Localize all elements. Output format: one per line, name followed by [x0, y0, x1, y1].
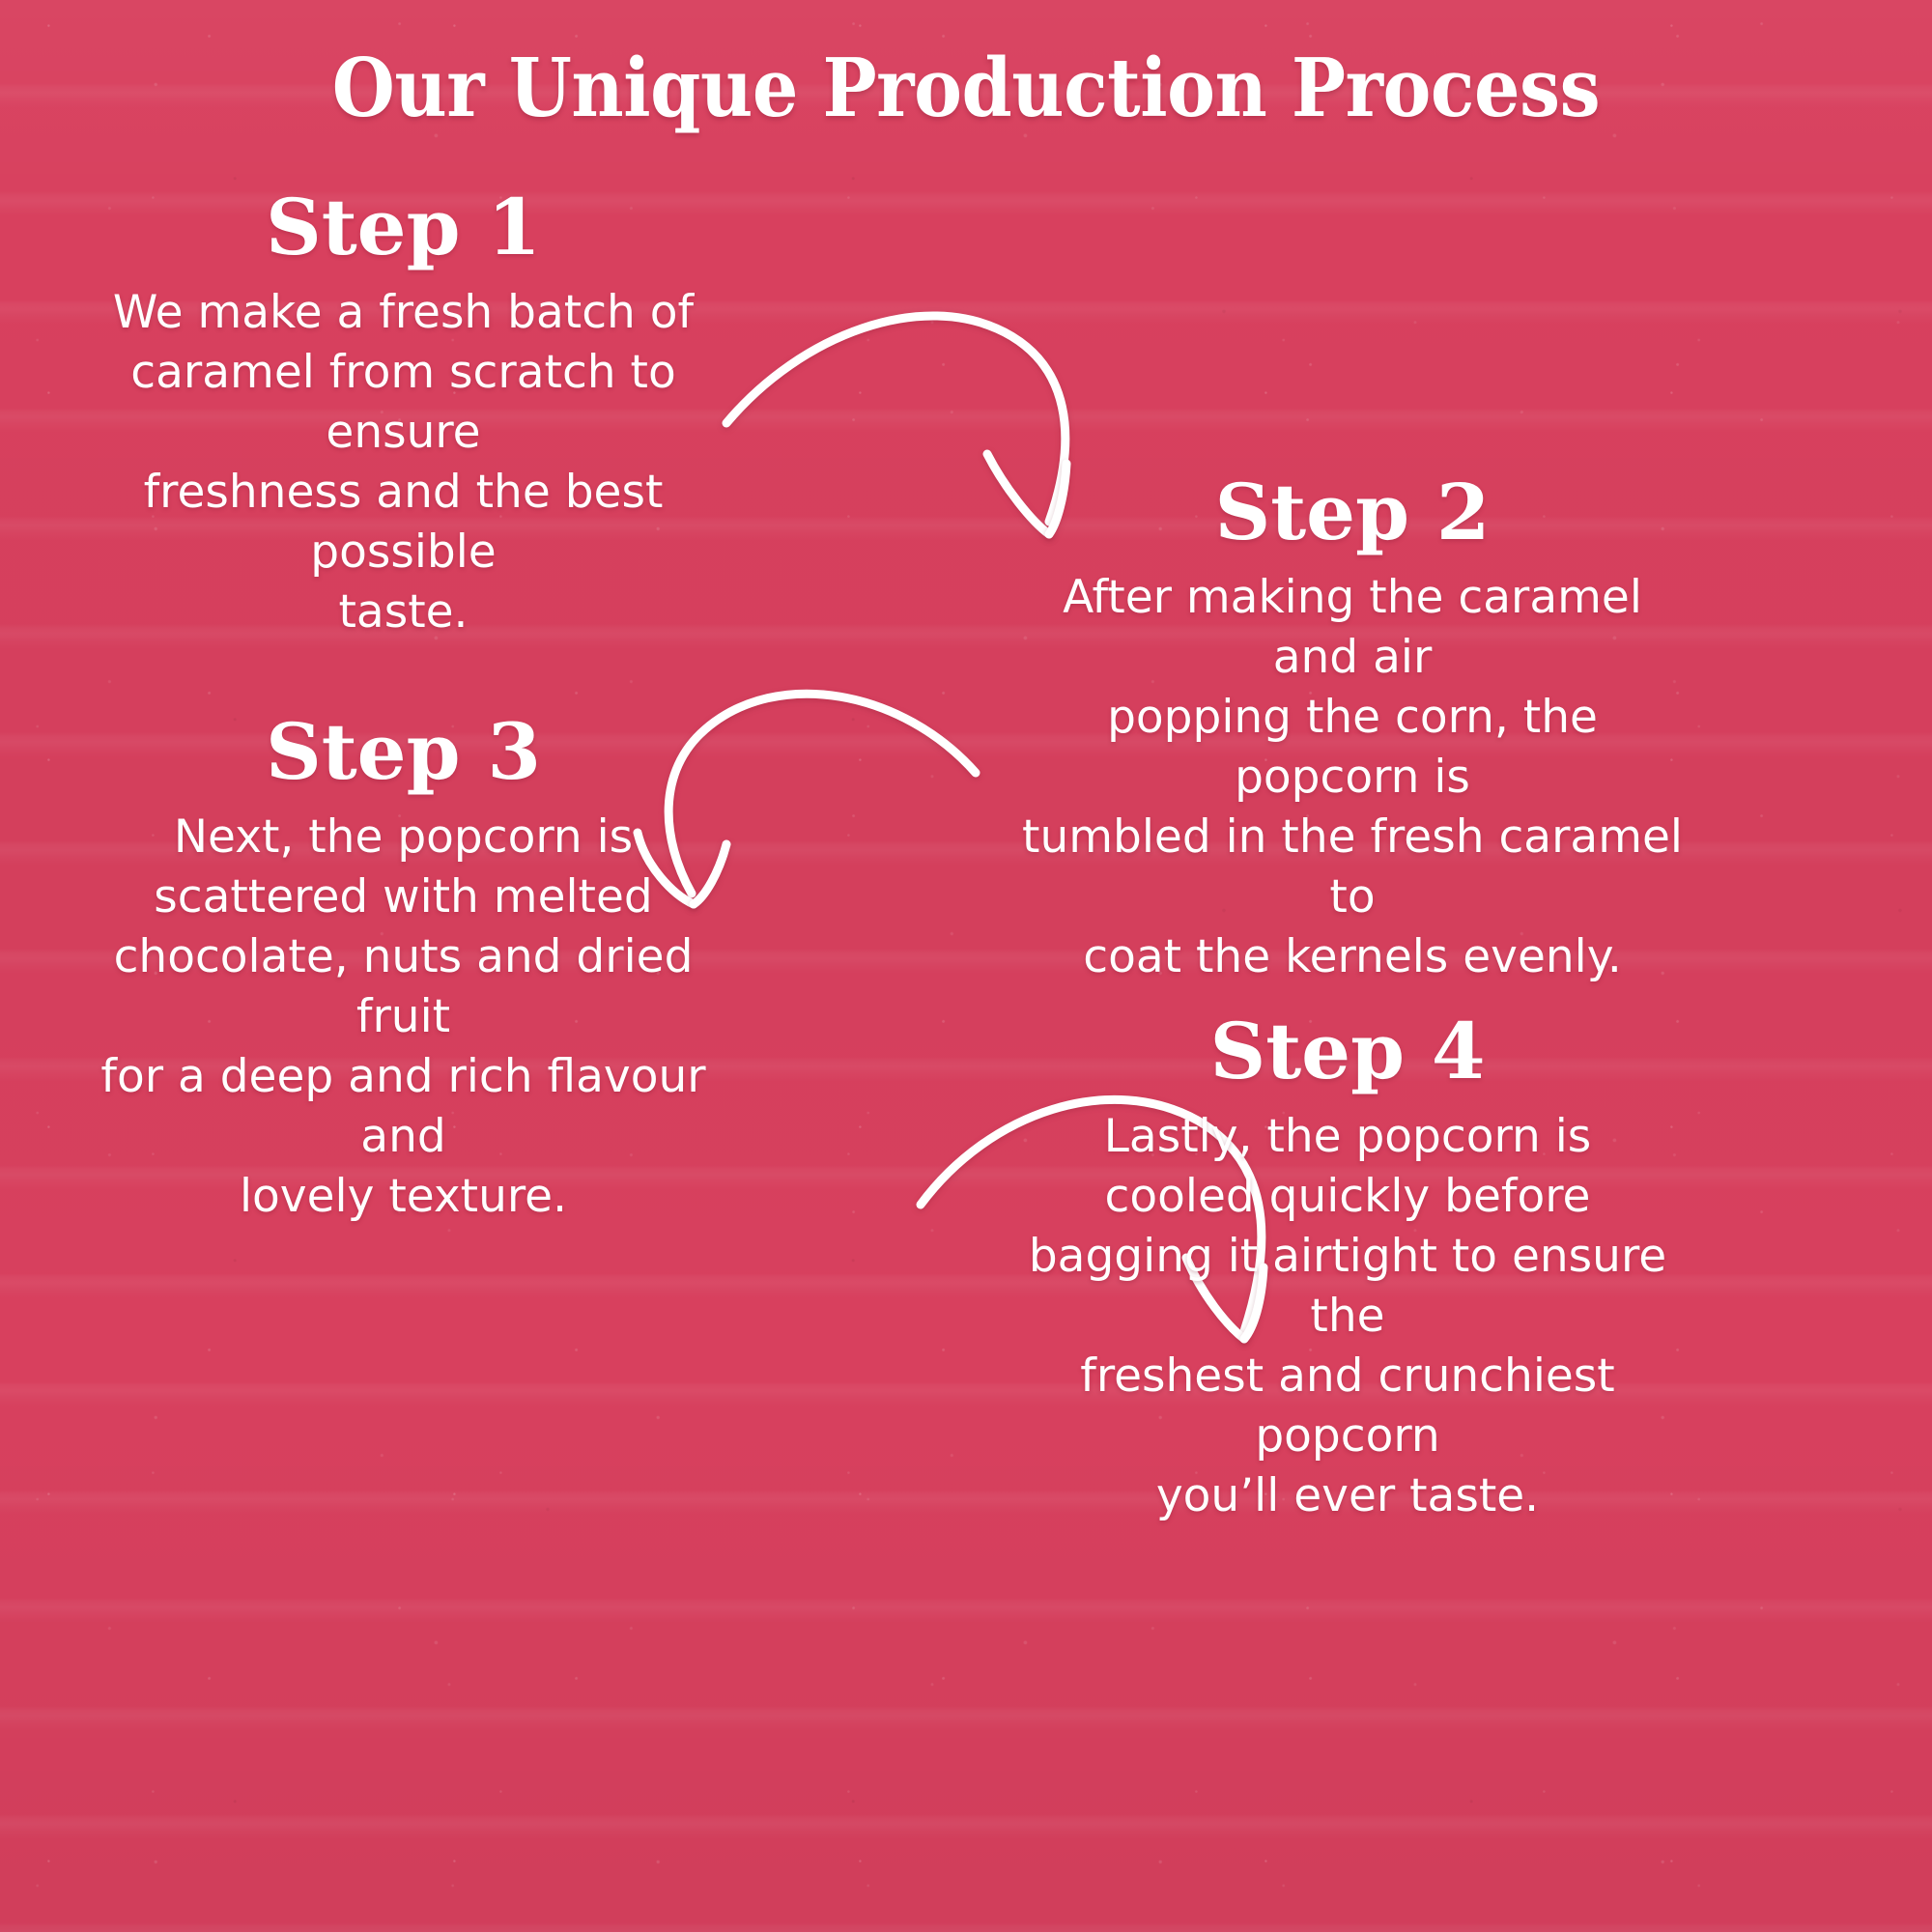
step-3-body: Next, the popcorn is scattered with melt… [82, 808, 724, 1227]
step-3-title: Step 3 [82, 713, 724, 790]
step-block-4: Step 4 Lastly, the popcorn is cooled qui… [1014, 1012, 1681, 1526]
step-2-body: After making the caramel and air popping… [1019, 568, 1686, 987]
step-1-title: Step 1 [82, 188, 724, 266]
step-block-1: Step 1 We make a fresh batch of caramel … [82, 188, 724, 642]
infographic-poster: Our Unique Production Process Step 1 We … [0, 0, 1932, 1932]
step-4-title: Step 4 [1014, 1012, 1681, 1090]
step-block-2: Step 2 After making the caramel and air … [1019, 473, 1686, 987]
step-2-title: Step 2 [1019, 473, 1686, 551]
step-block-3: Step 3 Next, the popcorn is scattered wi… [82, 713, 724, 1227]
step-4-body: Lastly, the popcorn is cooled quickly be… [1014, 1107, 1681, 1526]
step-1-body: We make a fresh batch of caramel from sc… [82, 283, 724, 642]
page-title: Our Unique Production Process [97, 41, 1835, 135]
arrow-step1-to-step2 [726, 316, 1066, 534]
